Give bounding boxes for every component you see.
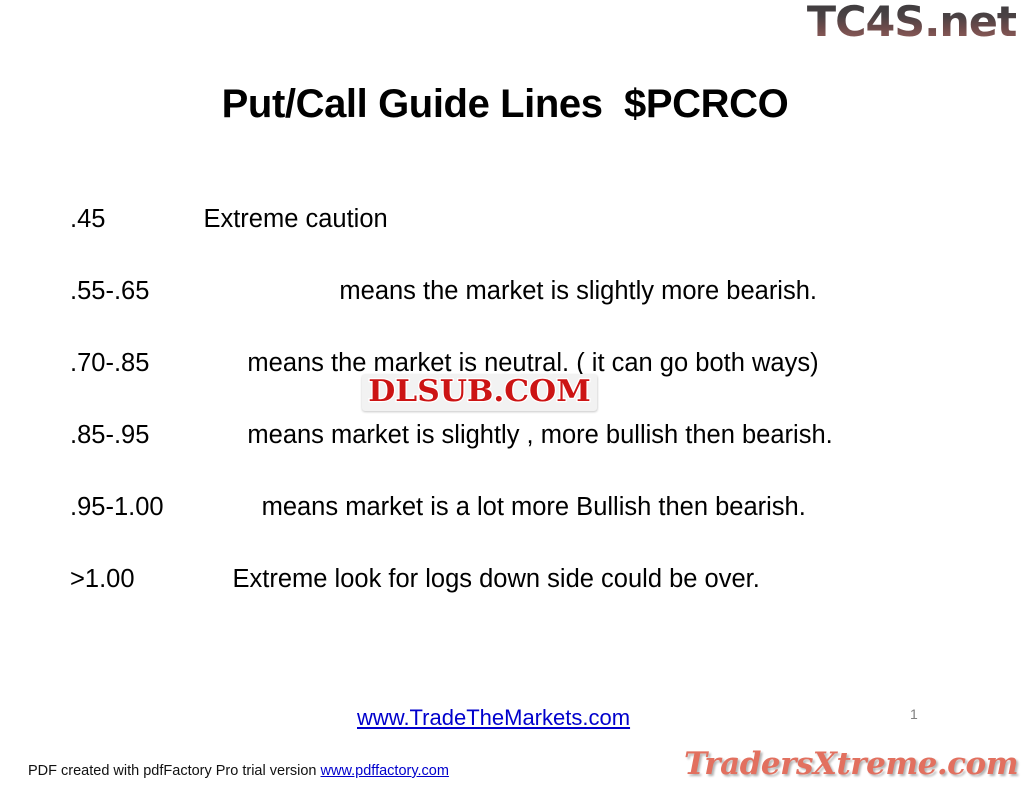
- dlsub-watermark: DLSUB.COM: [362, 374, 597, 411]
- pdf-factory-notice: PDF created with pdfFactory Pro trial ve…: [28, 762, 449, 781]
- tradethemarkets-link[interactable]: www.TradeTheMarkets.com: [357, 705, 630, 731]
- guide-row: .85-.95means market is slightly , more b…: [70, 416, 970, 455]
- guide-description: Extreme caution: [203, 205, 387, 233]
- pdf-notice-text: PDF created with pdfFactory Pro trial ve…: [28, 763, 321, 779]
- guide-range-label: .85-.95: [70, 421, 149, 449]
- guide-description: means the market is slightly more bearis…: [339, 277, 817, 305]
- slide-canvas: TC4S.net Put/Call Guide Lines $PCRCO .45…: [0, 0, 1024, 791]
- page-number: 1: [910, 705, 918, 723]
- guide-description: means market is slightly , more bullish …: [247, 421, 832, 449]
- guide-description: means market is a lot more Bullish then …: [262, 493, 806, 521]
- guide-range-label: .70-.85: [70, 349, 149, 377]
- tc4s-brand-logo: TC4S.net: [807, 0, 1016, 46]
- guide-row: .55-.65means the market is slightly more…: [70, 272, 970, 311]
- guide-row: .95-1.00means market is a lot more Bulli…: [70, 488, 970, 527]
- page-title: Put/Call Guide Lines $PCRCO: [0, 80, 1010, 128]
- guide-description: means the market is neutral. ( it can go…: [247, 349, 818, 377]
- pdffactory-link[interactable]: www.pdffactory.com: [321, 763, 449, 779]
- guide-row: >1.00Extreme look for logs down side cou…: [70, 560, 970, 599]
- guide-row: .45Extreme caution: [70, 200, 970, 239]
- guide-range-label: .95-1.00: [70, 493, 164, 521]
- guide-range-label: .45: [70, 205, 105, 233]
- guide-range-label: >1.00: [70, 565, 135, 593]
- guide-description: Extreme look for logs down side could be…: [233, 565, 760, 593]
- guide-range-label: .55-.65: [70, 277, 149, 305]
- tradersxtreme-logo: TradersXtreme.com: [684, 745, 1018, 783]
